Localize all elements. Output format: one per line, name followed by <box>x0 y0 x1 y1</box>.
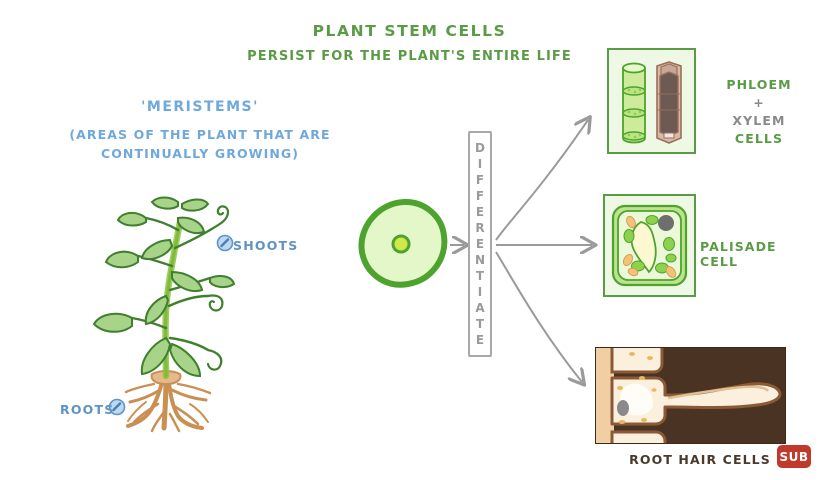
panel-root-hair-cells <box>595 347 786 444</box>
differentiate-letter: R <box>475 220 484 236</box>
page-title: PLANT STEM CELLS <box>0 22 819 40</box>
diagram-canvas: PLANT STEM CELLS PERSIST FOR THE PLANT'S… <box>0 0 819 480</box>
palisade-cell-label: PALISADE CELL <box>700 239 819 269</box>
phloem-xylem-label: PHLOEM + XYLEM CELLS <box>706 76 812 148</box>
cells-label: CELLS <box>706 130 812 148</box>
differentiate-letter: F <box>476 172 484 188</box>
differentiate-letter: E <box>476 236 484 252</box>
plus-sign: + <box>706 94 812 112</box>
xylem-label: XYLEM <box>706 112 812 130</box>
differentiate-letter: N <box>475 252 485 268</box>
page-subtitle: PERSIST FOR THE PLANT'S ENTIRE LIFE <box>0 49 819 64</box>
differentiate-letter: A <box>475 300 484 316</box>
shoots-label: SHOOTS <box>233 238 298 253</box>
differentiate-letter: T <box>476 268 484 284</box>
panel-palisade-cell <box>603 194 696 297</box>
differentiate-letter: F <box>476 188 484 204</box>
meristems-heading: 'MERISTEMS' <box>30 99 370 115</box>
meristems-description-line2: CONTINUALLY GROWING) <box>20 146 380 161</box>
phloem-label: PHLOEM <box>706 76 812 94</box>
arrow-to-root-hair <box>496 252 582 382</box>
plant-illustration <box>60 178 270 433</box>
differentiate-letter: D <box>475 140 485 156</box>
shoots-marker-icon <box>216 234 234 252</box>
differentiate-letter: E <box>476 332 484 348</box>
differentiate-letter: I <box>478 156 482 172</box>
root-hair-cells-label: ROOT HAIR CELLS <box>605 452 795 467</box>
arrow-to-phloem-xylem <box>496 120 588 240</box>
palisade-cell-icon <box>605 196 694 295</box>
panel-phloem-xylem <box>607 48 696 154</box>
subscribe-badge[interactable]: SUB <box>777 445 811 468</box>
meristems-description-line1: (AREAS OF THE PLANT THAT ARE <box>20 127 380 142</box>
root-hair-cell-icon <box>596 348 785 443</box>
arrow-group <box>430 100 620 410</box>
differentiate-letter: E <box>476 204 484 220</box>
differentiate-letter: I <box>478 284 482 300</box>
roots-label: ROOTS <box>60 402 114 417</box>
phloem-xylem-cells-icon <box>609 50 694 152</box>
differentiate-letter: T <box>476 316 484 332</box>
differentiate-box: D I F F E R E N T I A T E <box>468 131 492 357</box>
